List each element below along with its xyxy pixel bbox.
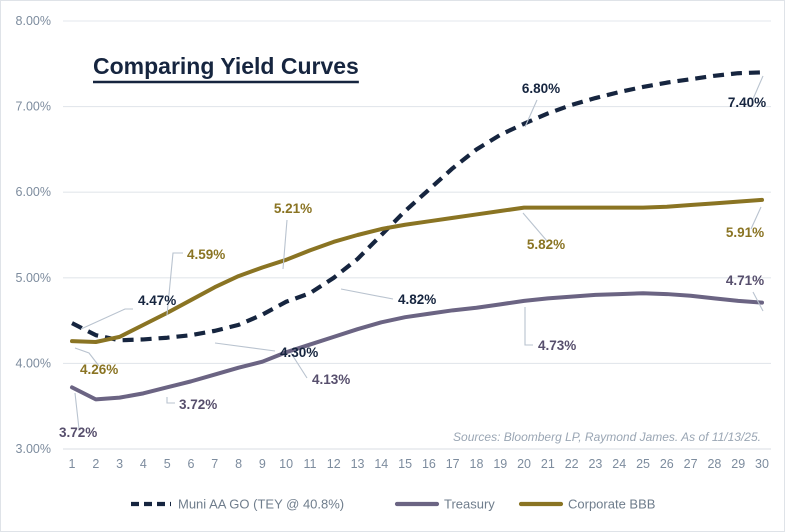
- x-tick-label: 13: [351, 457, 365, 471]
- x-tick-label: 22: [565, 457, 579, 471]
- legend-label: Treasury: [444, 496, 495, 511]
- data-point-label: 5.21%: [274, 201, 312, 216]
- x-tick-label: 18: [470, 457, 484, 471]
- data-point-label: 3.72%: [179, 397, 217, 412]
- x-tick-label: 16: [422, 457, 436, 471]
- data-point-label: 4.82%: [398, 292, 436, 307]
- chart-page: 8.00%7.00%6.00%5.00%4.00%3.00% 123456789…: [0, 0, 785, 532]
- x-tick-label: 12: [327, 457, 341, 471]
- leader-line: [81, 309, 133, 329]
- data-point-label: 6.80%: [522, 81, 560, 96]
- x-tick-label: 3: [116, 457, 123, 471]
- data-point-label: 5.91%: [726, 225, 764, 240]
- series-lines-group: [72, 72, 762, 399]
- x-tick-label: 8: [235, 457, 242, 471]
- x-tick-label: 9: [259, 457, 266, 471]
- x-tick-label: 24: [612, 457, 626, 471]
- x-tick-label: 30: [755, 457, 769, 471]
- leader-line: [75, 393, 79, 429]
- x-tick-label: 26: [660, 457, 674, 471]
- x-tick-label: 1: [69, 457, 76, 471]
- y-tick-label: 7.00%: [16, 100, 51, 114]
- x-tick-label: 25: [636, 457, 650, 471]
- leader-line: [341, 289, 393, 299]
- x-tick-label: 5: [164, 457, 171, 471]
- series-line: [72, 200, 762, 342]
- x-tick-label: 23: [588, 457, 602, 471]
- x-tick-label: 7: [211, 457, 218, 471]
- x-tick-label: 28: [707, 457, 721, 471]
- x-tick-label: 17: [446, 457, 460, 471]
- data-point-label: 4.13%: [312, 372, 350, 387]
- x-tick-label: 14: [374, 457, 388, 471]
- y-tick-label: 4.00%: [16, 356, 51, 370]
- data-point-label: 4.71%: [726, 273, 764, 288]
- x-tick-label: 20: [517, 457, 531, 471]
- x-axis-tick-labels: 1234567891011121314151617181920212223242…: [69, 457, 769, 471]
- leader-line: [525, 307, 533, 345]
- x-tick-label: 10: [279, 457, 293, 471]
- x-tick-label: 27: [684, 457, 698, 471]
- data-point-label: 4.30%: [280, 345, 318, 360]
- x-tick-label: 29: [731, 457, 745, 471]
- data-point-label: 7.40%: [728, 95, 766, 110]
- data-point-label: 4.26%: [80, 362, 118, 377]
- leader-line: [215, 343, 275, 351]
- y-tick-label: 5.00%: [16, 271, 51, 285]
- data-point-label: 5.82%: [527, 237, 565, 252]
- x-tick-label: 15: [398, 457, 412, 471]
- x-tick-label: 2: [92, 457, 99, 471]
- y-tick-label: 3.00%: [16, 442, 51, 456]
- source-note: Sources: Bloomberg LP, Raymond James. As…: [453, 430, 761, 444]
- chart-legend: Muni AA GO (TEY @ 40.8%)TreasuryCorporat…: [131, 496, 655, 511]
- annotation-leader-lines: [75, 76, 763, 429]
- data-point-label: 4.73%: [538, 338, 576, 353]
- x-tick-label: 11: [303, 457, 316, 471]
- data-point-label: 4.59%: [187, 247, 225, 262]
- x-tick-label: 19: [493, 457, 507, 471]
- x-tick-label: 6: [187, 457, 194, 471]
- y-tick-label: 8.00%: [16, 14, 51, 28]
- data-point-label: 4.47%: [138, 293, 176, 308]
- chart-title-text: Comparing Yield Curves: [93, 53, 359, 79]
- x-tick-label: 4: [140, 457, 147, 471]
- chart-title: Comparing Yield Curves: [93, 53, 359, 82]
- legend-label: Corporate BBB: [568, 496, 655, 511]
- y-axis-tick-labels: 8.00%7.00%6.00%5.00%4.00%3.00%: [16, 14, 51, 456]
- yield-curve-chart: 8.00%7.00%6.00%5.00%4.00%3.00% 123456789…: [1, 1, 785, 532]
- y-tick-label: 6.00%: [16, 185, 51, 199]
- x-tick-label: 21: [541, 457, 555, 471]
- leader-line: [167, 397, 175, 403]
- legend-label: Muni AA GO (TEY @ 40.8%): [178, 496, 344, 511]
- data-point-label: 3.72%: [59, 425, 97, 440]
